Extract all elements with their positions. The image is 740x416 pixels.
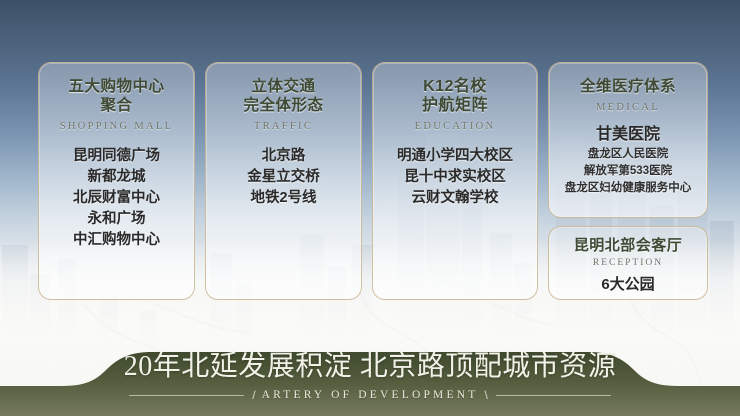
list-item: 北京路 (206, 146, 361, 167)
card-title-line-2: 完全体形态 (206, 96, 361, 115)
card-title: 全维医疗体系 (549, 77, 707, 96)
list-item: 地铁2号线 (206, 188, 361, 209)
card-item-list: 6大公园 (549, 274, 707, 295)
card-medical[interactable]: 全维医疗体系 MEDICAL 甘美医院 盘龙区人民医院 解放军第533医院 盘龙… (548, 62, 708, 218)
list-item: 北辰财富中心 (39, 188, 194, 209)
list-item: 金星立交桥 (206, 167, 361, 188)
list-item: 6大公园 (549, 274, 707, 295)
card-subtitle: TRAFFIC (206, 121, 361, 132)
promo-poster: 五大购物中心 聚合 SHOPPING MALL 昆明同德广场 新都龙城 北辰财富… (0, 0, 740, 416)
divider-left (129, 395, 244, 396)
banner-headline: 20年北延发展积淀 北京路顶配城市资源 (0, 349, 740, 385)
card-title: 五大购物中心 聚合 (39, 77, 194, 115)
feature-card-grid: 五大购物中心 聚合 SHOPPING MALL 昆明同德广场 新都龙城 北辰财富… (0, 0, 740, 330)
card-item-list: 北京路 金星立交桥 地铁2号线 (206, 146, 361, 209)
card-title-line-2: 护航矩阵 (373, 96, 537, 115)
card-title: 昆明北部会客厅 (549, 237, 707, 255)
list-item: 昆十中求实校区 (373, 167, 537, 188)
card-shopping-mall[interactable]: 五大购物中心 聚合 SHOPPING MALL 昆明同德广场 新都龙城 北辰财富… (38, 62, 195, 300)
card-item-list: 昆明同德广场 新都龙城 北辰财富中心 永和广场 中汇购物中心 (39, 146, 194, 251)
card-title-line-1: 立体交通 (206, 77, 361, 96)
tick-left-icon: / (252, 388, 255, 402)
banner-subline: ARTERY OF DEVELOPMENT (262, 389, 479, 401)
card-title-line-2: 聚合 (39, 96, 194, 115)
list-item: 昆明同德广场 (39, 146, 194, 167)
card-title-line-1: 五大购物中心 (39, 77, 194, 96)
card-title-line-1: 全维医疗体系 (549, 77, 707, 96)
list-item: 中汇购物中心 (39, 230, 194, 251)
list-item: 解放军第533医院 (549, 163, 707, 180)
list-item: 云财文翰学校 (373, 188, 537, 209)
list-item: 永和广场 (39, 209, 194, 230)
card-traffic[interactable]: 立体交通 完全体形态 TRAFFIC 北京路 金星立交桥 地铁2号线 (205, 62, 362, 300)
list-item: 明通小学四大校区 (373, 146, 537, 167)
card-title-line-1: K12名校 (373, 77, 537, 96)
card-item-list: 甘美医院 盘龙区人民医院 解放军第533医院 盘龙区妇幼健康服务中心 (549, 123, 707, 197)
card-subtitle: MEDICAL (549, 102, 707, 113)
tick-right-icon: \ (484, 388, 487, 402)
list-item-primary: 甘美医院 (549, 123, 707, 146)
card-item-list: 明通小学四大校区 昆十中求实校区 云财文翰学校 (373, 146, 537, 209)
card-title: K12名校 护航矩阵 (373, 77, 537, 115)
list-item: 盘龙区妇幼健康服务中心 (549, 180, 707, 197)
list-item: 盘龙区人民医院 (549, 146, 707, 163)
card-subtitle: EDUCATION (373, 121, 537, 132)
card-subtitle: SHOPPING MALL (39, 121, 194, 132)
card-education[interactable]: K12名校 护航矩阵 EDUCATION 明通小学四大校区 昆十中求实校区 云财… (372, 62, 538, 300)
card-reception[interactable]: 昆明北部会客厅 RECEPTION 6大公园 (548, 226, 708, 300)
list-item: 新都龙城 (39, 167, 194, 188)
banner-subline-row: / ARTERY OF DEVELOPMENT \ (0, 388, 740, 402)
divider-right (496, 395, 611, 396)
card-subtitle: RECEPTION (549, 258, 707, 268)
card-title-line-1: 昆明北部会客厅 (549, 237, 707, 255)
bottom-banner: 20年北延发展积淀 北京路顶配城市资源 / ARTERY OF DEVELOPM… (0, 344, 740, 416)
card-title: 立体交通 完全体形态 (206, 77, 361, 115)
